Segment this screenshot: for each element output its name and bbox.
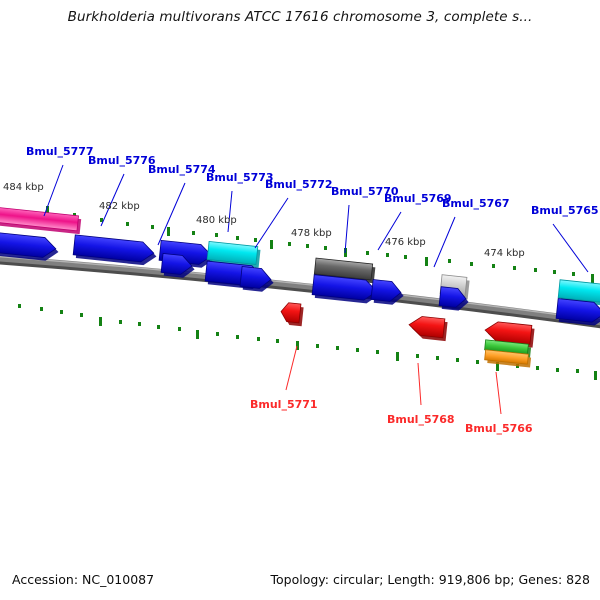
- scale-tick: [99, 317, 102, 326]
- scale-label: 478 kbp: [291, 228, 332, 239]
- genome-map-svg[interactable]: 484 kbp482 kbp480 kbp478 kbp476 kbp474 k…: [0, 34, 600, 554]
- scale-tick: [119, 320, 122, 324]
- scale-tick: [270, 240, 273, 249]
- title-bar: Burkholderia multivorans ATCC 17616 chro…: [0, 0, 600, 34]
- scale-tick: [336, 346, 339, 350]
- scale-tick: [80, 313, 83, 317]
- scale-tick: [536, 366, 539, 370]
- scale-label: 482 kbp: [99, 201, 140, 212]
- map-canvas[interactable]: 484 kbp482 kbp480 kbp478 kbp476 kbp474 k…: [0, 34, 600, 554]
- scale-tick: [594, 371, 597, 380]
- gene-label-bmul_5776[interactable]: Bmul_5776: [88, 154, 156, 167]
- sequence-summary-label: Topology: circular; Length: 919,806 bp; …: [271, 572, 591, 587]
- gene-label-bmul_5772[interactable]: Bmul_5772: [265, 178, 333, 191]
- scale-tick: [167, 227, 170, 236]
- gene-label-bmul_5768[interactable]: Bmul_5768: [387, 413, 455, 426]
- leader-line-forward: [44, 165, 63, 216]
- gene-feature[interactable]: [408, 315, 448, 341]
- scale-tick: [576, 369, 579, 373]
- scale-tick: [513, 266, 516, 270]
- gene-label-bmul_5765[interactable]: Bmul_5765: [531, 204, 599, 217]
- scale-tick: [215, 233, 218, 237]
- gene-feature[interactable]: [240, 266, 275, 292]
- scale-tick: [192, 231, 195, 235]
- scale-tick: [138, 322, 141, 326]
- leader-line-reverse: [286, 346, 297, 390]
- scale-tick: [448, 259, 451, 263]
- scale-tick: [324, 246, 327, 250]
- accession-label: Accession: NC_010087: [12, 572, 154, 587]
- scale-tick: [254, 238, 257, 242]
- leader-line-forward: [434, 217, 455, 267]
- gene-label-bmul_5766[interactable]: Bmul_5766: [465, 422, 533, 435]
- scale-tick: [534, 268, 537, 272]
- scale-tick: [425, 257, 428, 266]
- scale-tick: [236, 335, 239, 339]
- scale-tick: [306, 244, 309, 248]
- genome-map-viewer: Burkholderia multivorans ATCC 17616 chro…: [0, 0, 600, 600]
- scale-tick: [416, 354, 419, 358]
- scale-tick: [492, 264, 495, 268]
- scale-tick: [126, 222, 129, 226]
- gene-body[interactable]: [280, 302, 301, 323]
- gene-feature[interactable]: [280, 302, 304, 326]
- scale-tick: [572, 272, 575, 276]
- scale-tick: [476, 360, 479, 364]
- scale-tick: [316, 344, 319, 348]
- scale-tick: [553, 270, 556, 274]
- gene-label-bmul_5767[interactable]: Bmul_5767: [442, 197, 510, 210]
- status-bar: Accession: NC_010087 Topology: circular;…: [0, 564, 600, 600]
- scale-tick: [356, 348, 359, 352]
- scale-tick: [404, 255, 407, 259]
- scale-tick: [396, 352, 399, 361]
- scale-tick: [157, 325, 160, 329]
- scale-tick: [288, 242, 291, 246]
- gene-body[interactable]: [408, 315, 445, 338]
- leader-line-reverse: [418, 363, 421, 405]
- scale-tick: [366, 251, 369, 255]
- gene-feature[interactable]: [0, 206, 82, 234]
- scale-tick: [257, 337, 260, 341]
- scale-tick: [556, 368, 559, 372]
- leader-line-forward: [158, 183, 185, 245]
- scale-label: 480 kbp: [196, 215, 237, 226]
- scale-tick: [18, 304, 21, 308]
- scale-label: 474 kbp: [484, 248, 525, 259]
- gene-feature[interactable]: [73, 235, 158, 267]
- leader-line-forward: [553, 224, 588, 272]
- gene-label-bmul_5777[interactable]: Bmul_5777: [26, 145, 94, 158]
- scale-label: 476 kbp: [385, 237, 426, 248]
- scale-tick: [178, 327, 181, 331]
- scale-tick: [196, 330, 199, 339]
- scale-tick: [591, 274, 594, 283]
- scale-tick: [276, 339, 279, 343]
- scale-tick: [436, 356, 439, 360]
- scale-tick: [386, 253, 389, 257]
- scale-tick: [236, 236, 239, 240]
- gene-body[interactable]: [0, 206, 79, 231]
- scale-tick: [60, 310, 63, 314]
- leader-line-forward: [101, 174, 124, 226]
- scale-label: 484 kbp: [3, 182, 44, 193]
- scale-tick: [470, 262, 473, 266]
- scale-tick: [151, 225, 154, 229]
- scale-tick: [456, 358, 459, 362]
- gene-label-bmul_5773[interactable]: Bmul_5773: [206, 171, 274, 184]
- leader-line-reverse: [496, 372, 501, 414]
- scale-tick: [216, 332, 219, 336]
- leader-line-forward: [345, 205, 349, 253]
- scale-tick: [40, 307, 43, 311]
- page-title: Burkholderia multivorans ATCC 17616 chro…: [68, 9, 533, 25]
- gene-label-bmul_5771[interactable]: Bmul_5771: [250, 398, 318, 411]
- scale-tick: [376, 350, 379, 354]
